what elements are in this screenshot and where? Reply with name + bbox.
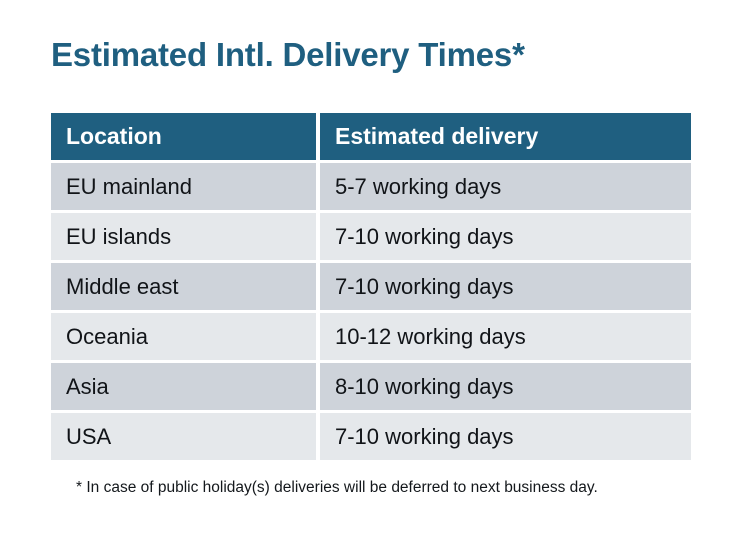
cell-location: EU mainland	[51, 163, 316, 210]
table-row: USA 7-10 working days	[51, 413, 691, 460]
footnote-text: * In case of public holiday(s) deliverie…	[76, 479, 598, 497]
cell-estimated-delivery: 7-10 working days	[320, 413, 691, 460]
cell-location: EU islands	[51, 213, 316, 260]
cell-location: Oceania	[51, 313, 316, 360]
delivery-times-document: Estimated Intl. Delivery Times* Location…	[0, 0, 745, 536]
cell-estimated-delivery: 5-7 working days	[320, 163, 691, 210]
cell-location: USA	[51, 413, 316, 460]
cell-estimated-delivery: 10-12 working days	[320, 313, 691, 360]
cell-location: Asia	[51, 363, 316, 410]
delivery-times-table: Location Estimated delivery EU mainland …	[51, 113, 691, 460]
table-row: Asia 8-10 working days	[51, 363, 691, 410]
table-header-row: Location Estimated delivery	[51, 113, 691, 160]
column-header-location: Location	[51, 113, 316, 160]
cell-location: Middle east	[51, 263, 316, 310]
cell-estimated-delivery: 7-10 working days	[320, 213, 691, 260]
cell-estimated-delivery: 8-10 working days	[320, 363, 691, 410]
table-row: Oceania 10-12 working days	[51, 313, 691, 360]
table-row: Middle east 7-10 working days	[51, 263, 691, 310]
table-row: EU islands 7-10 working days	[51, 213, 691, 260]
column-header-estimated-delivery: Estimated delivery	[320, 113, 691, 160]
cell-estimated-delivery: 7-10 working days	[320, 263, 691, 310]
page-title: Estimated Intl. Delivery Times*	[51, 36, 525, 74]
table-row: EU mainland 5-7 working days	[51, 163, 691, 210]
